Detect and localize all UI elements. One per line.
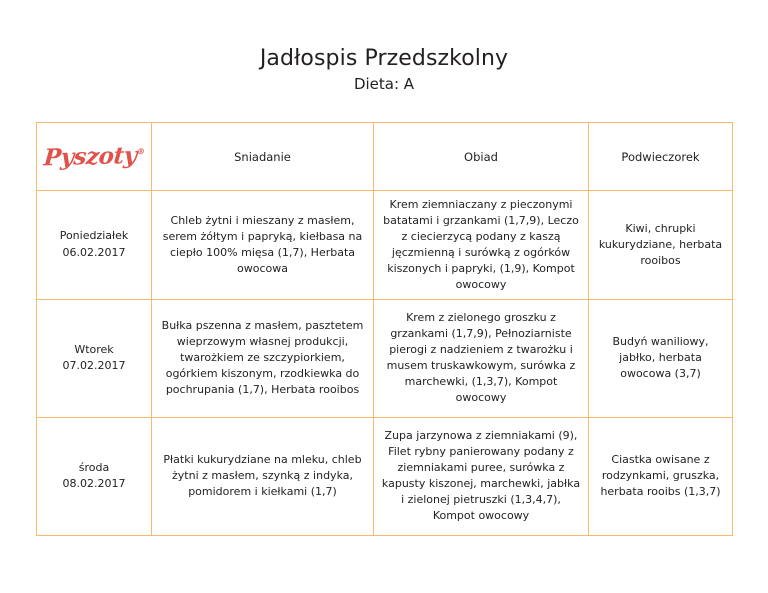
lunch-cell: Krem z zielonego groszku z grzankami (1,… bbox=[374, 299, 589, 417]
day-cell: Wtorek 07.02.2017 bbox=[37, 299, 152, 417]
snack-cell: Kiwi, chrupki kukurydziane, herbata rooi… bbox=[589, 191, 733, 300]
lunch-cell: Zupa jarzynowa z ziemniakami (9), Filet … bbox=[374, 417, 589, 535]
day-cell: Poniedziałek 06.02.2017 bbox=[37, 191, 152, 300]
menu-table: Pyszoty® Sniadanie Obiad Podwieczorek Po… bbox=[36, 122, 733, 536]
lunch-cell: Krem ziemniaczany z pieczonymi batatami … bbox=[374, 191, 589, 300]
table-row: Poniedziałek 06.02.2017 Chleb żytni i mi… bbox=[37, 191, 733, 300]
page-title: Jadłospis Przedszkolny bbox=[0, 46, 768, 71]
table-body: Poniedziałek 06.02.2017 Chleb żytni i mi… bbox=[37, 191, 733, 536]
table-header: Pyszoty® Sniadanie Obiad Podwieczorek bbox=[37, 123, 733, 191]
breakfast-cell: Bułka pszenna z masłem, pasztetem wieprz… bbox=[152, 299, 374, 417]
column-header-breakfast: Sniadanie bbox=[152, 123, 374, 191]
snack-cell: Ciastka owisane z rodzynkami, gruszka, h… bbox=[589, 417, 733, 535]
day-cell: środa 08.02.2017 bbox=[37, 417, 152, 535]
table-row: Wtorek 07.02.2017 Bułka pszenna z masłem… bbox=[37, 299, 733, 417]
breakfast-cell: Płatki kukurydziane na mleku, chleb żytn… bbox=[152, 417, 374, 535]
breakfast-cell: Chleb żytni i mieszany z masłem, serem ż… bbox=[152, 191, 374, 300]
diet-subtitle: Dieta: A bbox=[0, 75, 768, 95]
column-header-snack: Podwieczorek bbox=[589, 123, 733, 191]
table-row: środa 08.02.2017 Płatki kukurydziane na … bbox=[37, 417, 733, 535]
registered-mark-icon: ® bbox=[137, 146, 146, 156]
column-header-lunch: Obiad bbox=[374, 123, 589, 191]
title-block: Jadłospis Przedszkolny Dieta: A bbox=[0, 0, 768, 95]
logo-text: Pyszoty bbox=[43, 142, 138, 171]
header-row: Pyszoty® Sniadanie Obiad Podwieczorek bbox=[37, 123, 733, 191]
brand-logo-cell: Pyszoty® bbox=[37, 123, 152, 191]
menu-table-container: Pyszoty® Sniadanie Obiad Podwieczorek Po… bbox=[36, 122, 732, 536]
snack-cell: Budyń waniliowy, jabłko, herbata owocowa… bbox=[589, 299, 733, 417]
pyszoty-logo: Pyszoty® bbox=[43, 142, 146, 172]
